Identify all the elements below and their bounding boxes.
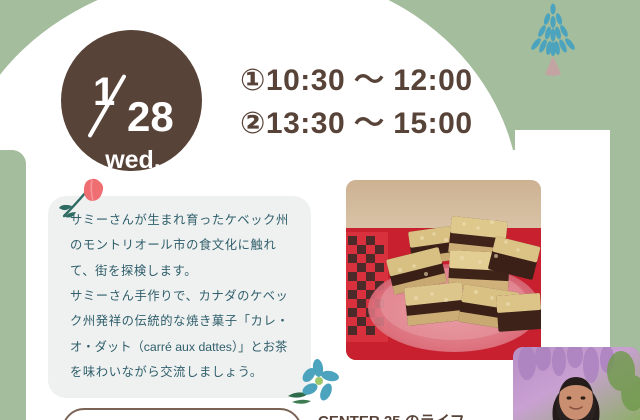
date-weekday: wed. <box>93 148 173 173</box>
session-2-time: ②13:30 ～ 15:00 <box>240 103 473 146</box>
description-line: オ・ダット（carré aux dattes）」とお茶 <box>70 335 298 360</box>
description-line: のモントリオール市の食文化に触れ <box>70 233 298 258</box>
footer-pill-button[interactable] <box>62 408 302 420</box>
pine-tree-icon <box>520 2 586 82</box>
description-line: ク州発祥の伝統的な焼き菓子「カレ・ <box>70 309 298 334</box>
food-photo <box>346 180 541 360</box>
tulip-icon <box>56 176 112 220</box>
description-text: サミーさんが生まれ育ったケベック州 のモントリオール市の食文化に触れ て、街を探… <box>70 208 298 385</box>
poster-canvas: 1 28 wed. ①10:30 ～ 12:00 ②13:30 ～ 15:00 … <box>0 0 640 420</box>
session-1-time: ①10:30 ～ 12:00 <box>240 60 473 103</box>
footer-partial-text: CENTER 25 のライフ <box>318 410 465 420</box>
description-line: て、街を探検します。 <box>70 259 298 284</box>
blue-flower-icon <box>286 356 342 408</box>
date-badge: 1 28 wed. <box>61 30 202 171</box>
schedule-times: ①10:30 ～ 12:00 ②13:30 ～ 15:00 <box>240 60 473 145</box>
description-line: サミーさん手作りで、カナダのケベッ <box>70 284 298 309</box>
background-green-left-band <box>0 150 26 420</box>
date-day: 28 <box>127 96 174 138</box>
description-line: を味わいながら交流しましょう。 <box>70 360 298 385</box>
portrait-photo <box>513 347 640 420</box>
